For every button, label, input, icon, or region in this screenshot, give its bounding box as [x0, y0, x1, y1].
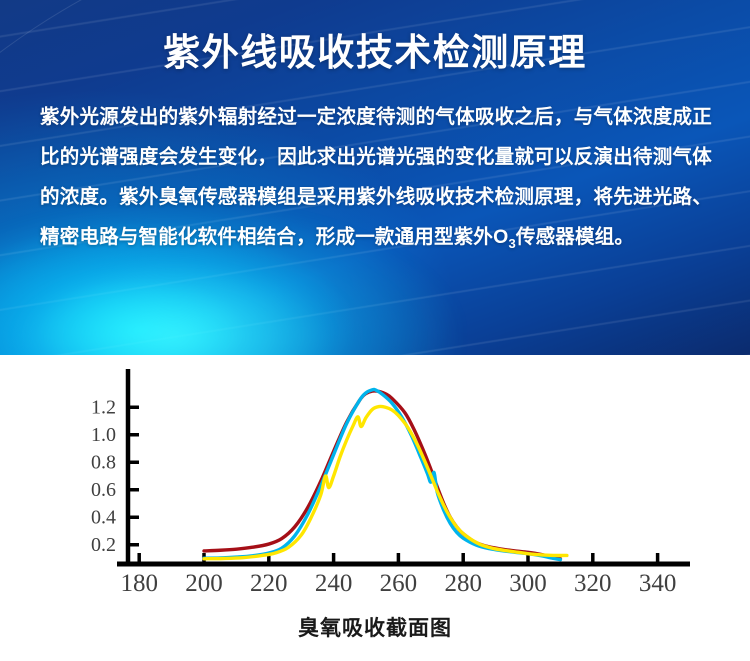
subscript-3: 3	[508, 236, 515, 251]
description-paragraph: 紫外光源发出的紫外辐射经过一定浓度待测的气体吸收之后，与气体浓度成正比的光谱强度…	[40, 97, 712, 259]
series-cyan-blue-curve	[204, 389, 560, 559]
series-dark-red-curve	[204, 391, 560, 559]
page-title: 紫外线吸收技术检测原理	[0, 22, 750, 76]
y-tick-label: 0.4	[91, 506, 116, 528]
y-tick-label: 1.2	[91, 396, 116, 418]
x-tick-label: 200	[185, 570, 223, 597]
x-tick-label: 180	[120, 570, 158, 597]
x-tick-label: 240	[315, 570, 353, 597]
x-tick-label: 260	[380, 570, 418, 597]
x-tick-label: 340	[639, 570, 677, 597]
series-yellow-curve	[204, 406, 567, 558]
y-tick-label: 0.2	[91, 534, 116, 556]
x-tick-label: 300	[509, 570, 547, 597]
paragraph-text-after: 传感器模组。	[516, 226, 634, 248]
chart-caption: 臭氧吸收截面图	[0, 612, 750, 642]
y-tick-label: 1.0	[91, 424, 116, 446]
x-axis-tick-labels: 180200220240260280300320340	[120, 570, 676, 597]
y-axis-tick-labels: 0.20.40.60.81.01.2	[91, 396, 116, 556]
x-tick-label: 280	[444, 570, 482, 597]
chart-axes	[117, 369, 690, 564]
x-tick-label: 320	[574, 570, 612, 597]
y-tick-label: 0.6	[91, 479, 116, 501]
hero-banner: 紫外线吸收技术检测原理 紫外光源发出的紫外辐射经过一定浓度待测的气体吸收之后，与…	[0, 0, 750, 355]
x-tick-label: 220	[250, 570, 288, 597]
chart-series	[204, 389, 567, 559]
y-tick-label: 0.8	[91, 451, 116, 473]
chart-ticks	[128, 407, 658, 564]
